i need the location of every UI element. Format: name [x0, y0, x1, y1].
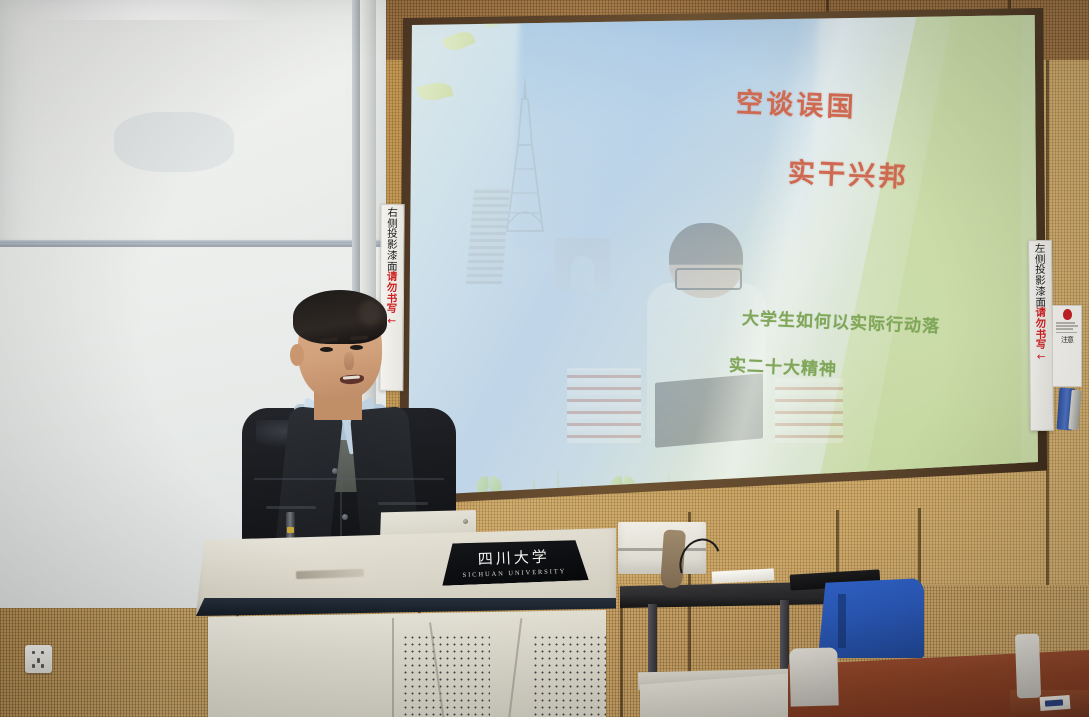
whiteboard-smudge [114, 112, 234, 172]
whiteboard-glare [24, 0, 274, 20]
sign-char: 写 [1036, 340, 1047, 351]
university-plaque: 四川大学 SICHUAN UNIVERSITY [439, 538, 589, 586]
no-smoking-icon [1063, 309, 1072, 320]
right-projection-warning-sign: 左 侧 投 影 漆 面 请 勿 书 写 ← [1028, 240, 1054, 431]
arrow-left-icon: ← [1037, 352, 1046, 363]
microphone [286, 512, 295, 538]
lectern-speaker-grille [532, 634, 606, 717]
slide-surface: 空谈误国 实干兴邦 大学生如何以实际行动落 实二十大精神 [399, 8, 1047, 508]
eye [320, 347, 333, 352]
eye [350, 345, 363, 350]
chair-back-gap [838, 594, 846, 648]
wall-notice: 注意 [1052, 305, 1082, 387]
slide-subtitle-line-2: 实二十大精神 [729, 351, 838, 381]
nose [344, 352, 354, 370]
desk-item [1040, 695, 1071, 711]
sign-char: 漆 [1035, 287, 1046, 298]
jacket-pocket [378, 502, 428, 505]
projection-screen: 空谈误国 实干兴邦 大学生如何以实际行动落 实二十大精神 [399, 8, 1047, 508]
notice-caption: 注意 [1055, 335, 1079, 345]
slide-title-line-1: 空谈误国 [735, 81, 857, 125]
screen-sheen [399, 8, 1047, 508]
jacket-seam [254, 478, 444, 480]
desk-divider [1015, 634, 1041, 699]
slide-title-line-2: 实干兴邦 [787, 150, 909, 194]
lectern-speaker-grille [402, 634, 490, 717]
blue-chair [818, 578, 924, 658]
desk-divider [789, 647, 839, 706]
power-outlet [25, 645, 52, 673]
lectern: 四川大学 SICHUAN UNIVERSITY [196, 506, 616, 717]
plaque-chinese-name: 四川大学 [477, 546, 550, 570]
lectern-seam [392, 618, 394, 717]
sign-char: 漆 [387, 251, 398, 262]
paper-sheet [712, 568, 775, 583]
lecture-hall-photo: 空谈误国 实干兴邦 大学生如何以实际行动落 实二十大精神 右 侧 投 影 漆 面… [0, 0, 1089, 717]
presenter-ear [290, 344, 304, 366]
presenter-hair [293, 290, 387, 344]
jacket-button [332, 468, 338, 474]
plaque-english-name: SICHUAN UNIVERSITY [462, 568, 566, 579]
